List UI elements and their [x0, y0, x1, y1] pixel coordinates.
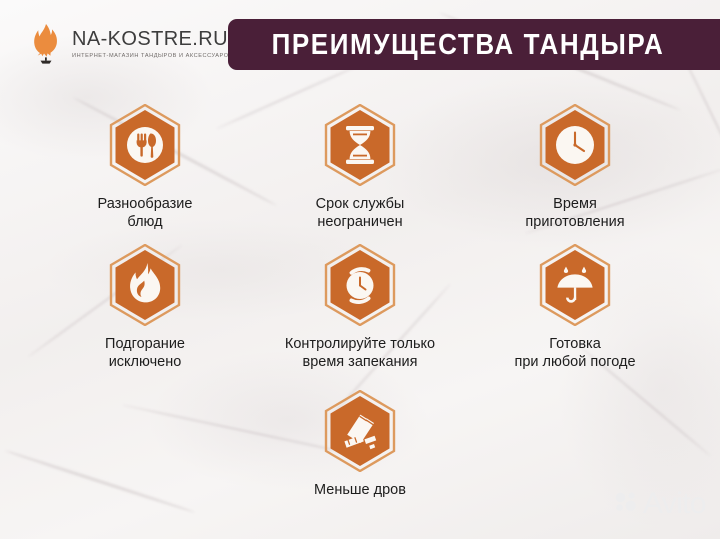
feature-label: Разнообразие блюд — [98, 195, 193, 231]
timer-icon — [324, 244, 396, 326]
avito-watermark: Avito — [615, 489, 706, 519]
avito-dots-icon — [615, 490, 639, 519]
feature-label: Меньше дров — [314, 481, 406, 499]
firewood-logs-icon — [324, 390, 396, 472]
brand-logo[interactable]: NA-KOSTRE.RU ИНТЕРНЕТ-МАГАЗИН ТАНДЫРОВ И… — [28, 22, 233, 66]
page-title: ПРЕИМУЩЕСТВА ТАНДЫРА — [272, 27, 677, 62]
feature-label: Контролируйте только время запекания — [285, 335, 435, 371]
feature-label: Время приготовления — [525, 195, 624, 231]
features-grid: Разнообразие блюд — [0, 96, 720, 539]
fork-knife-icon — [109, 104, 181, 186]
header: NA-KOSTRE.RU ИНТЕРНЕТ-МАГАЗИН ТАНДЫРОВ И… — [0, 0, 720, 88]
feature-item: Срок службы неограничен — [245, 104, 475, 231]
brand-name: NA-KOSTRE.RU — [72, 29, 233, 50]
feature-label: Готовка при любой погоде — [514, 335, 635, 371]
clock-icon — [539, 104, 611, 186]
feature-label: Срок службы неограничен — [316, 195, 405, 231]
umbrella-rain-icon — [539, 244, 611, 326]
feature-label: Подгорание исключено — [105, 335, 185, 371]
feature-item: Готовка при любой погоде — [460, 244, 690, 371]
feature-item: Разнообразие блюд — [30, 104, 260, 231]
avito-watermark-text: Avito — [643, 489, 706, 519]
flame-icon — [109, 244, 181, 326]
title-banner: ПРЕИМУЩЕСТВА ТАНДЫРА — [228, 19, 720, 70]
infographic-canvas: NA-KOSTRE.RU ИНТЕРНЕТ-МАГАЗИН ТАНДЫРОВ И… — [0, 0, 720, 539]
feature-item: Контролируйте только время запекания — [245, 244, 475, 371]
hourglass-icon — [324, 104, 396, 186]
brand-logo-text: NA-KOSTRE.RU ИНТЕРНЕТ-МАГАЗИН ТАНДЫРОВ И… — [72, 29, 233, 59]
brand-tagline: ИНТЕРНЕТ-МАГАЗИН ТАНДЫРОВ И АКСЕССУАРОВ — [72, 53, 233, 59]
campfire-flame-icon — [28, 22, 64, 66]
feature-item: Меньше дров — [245, 390, 475, 499]
feature-item: Время приготовления — [460, 104, 690, 231]
feature-item: Подгорание исключено — [30, 244, 260, 371]
